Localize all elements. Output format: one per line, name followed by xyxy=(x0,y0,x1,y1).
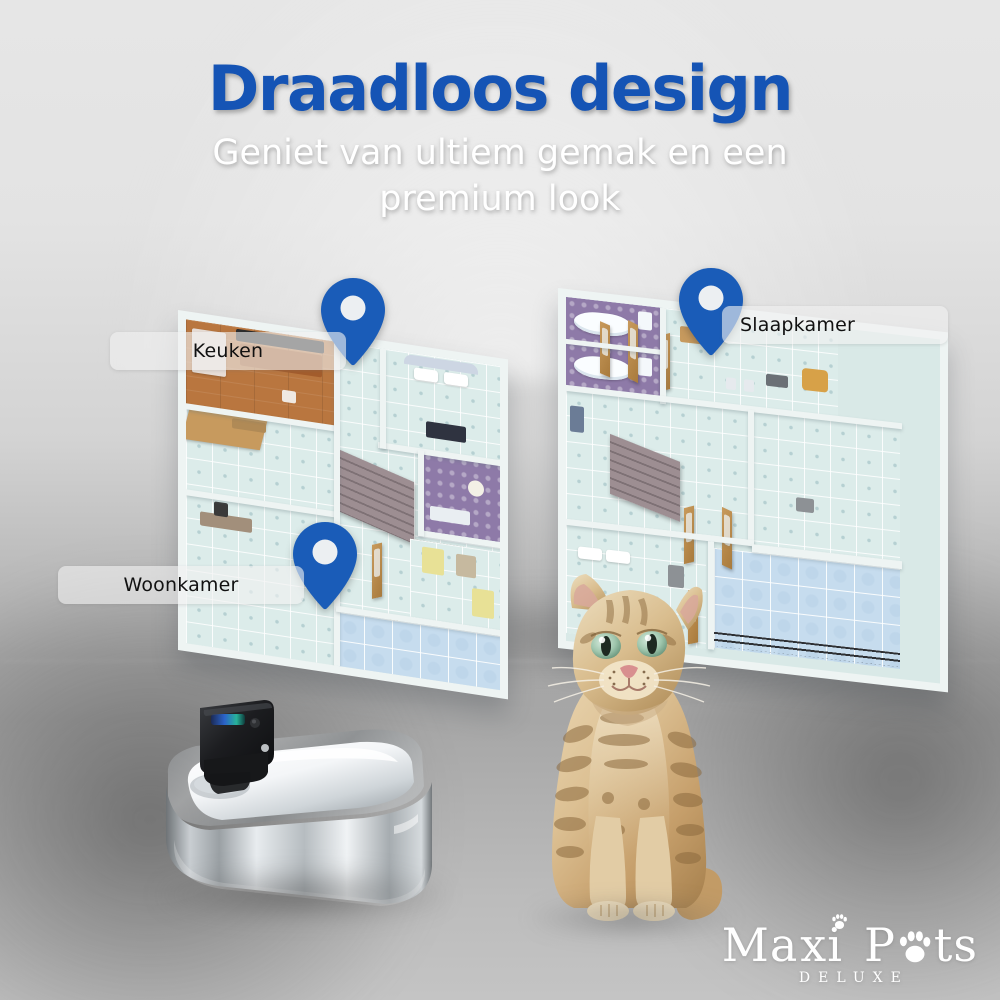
door xyxy=(372,543,382,599)
pump-indicator xyxy=(261,744,269,752)
pillow xyxy=(606,549,630,564)
wall xyxy=(334,341,340,672)
brand-logo-wordmark: MaxiPts xyxy=(722,922,978,968)
headline-block: Draadloos design Geniet van ultiem gemak… xyxy=(0,58,1000,222)
wall xyxy=(660,308,666,405)
bengal-cat xyxy=(516,568,746,936)
toilet xyxy=(638,311,652,331)
living-tv xyxy=(214,501,228,517)
door xyxy=(600,321,610,377)
side-table xyxy=(456,554,476,579)
brand-logo-tagline: DELUXE xyxy=(722,970,978,986)
room-family-left xyxy=(410,539,500,630)
wall xyxy=(748,410,754,547)
pillow xyxy=(578,546,602,561)
brand-logo-ma: Ma xyxy=(722,922,799,968)
bengal-cat-illustration xyxy=(516,568,746,936)
brand-logo: MaxiPts DELUXE xyxy=(722,922,978,986)
kitchen-appliance xyxy=(282,390,296,404)
yellow-armchair xyxy=(422,546,444,575)
brand-logo-ts: ts xyxy=(934,922,978,968)
yellow-armchair xyxy=(472,588,494,619)
page-subtitle: Geniet van ultiem gemak en een premium l… xyxy=(170,130,830,222)
toilet xyxy=(638,357,652,377)
product-shadow xyxy=(160,868,446,922)
product-water-fountain xyxy=(148,690,448,930)
left-wing-interior xyxy=(186,319,500,690)
hall-cabinet xyxy=(570,405,584,433)
label-slaapkamer-text: Slaapkamer xyxy=(740,314,855,336)
pump-display xyxy=(211,714,245,725)
paw-print-small-icon xyxy=(831,892,848,910)
promo-banner: Draadloos design Geniet van ultiem gemak… xyxy=(0,0,1000,1000)
stool xyxy=(744,379,754,392)
brand-logo-p: P xyxy=(864,922,896,968)
label-woonkamer-text: Woonkamer xyxy=(123,574,238,596)
pouffe xyxy=(802,368,828,393)
cat-shadow xyxy=(532,898,732,938)
room-lounge xyxy=(752,410,900,561)
bedroom-bench xyxy=(766,374,788,389)
stool xyxy=(726,377,736,390)
paw-print-large-icon xyxy=(898,926,932,962)
coffee-table xyxy=(796,497,814,513)
label-woonkamer[interactable]: Woonkamer xyxy=(58,566,304,604)
label-keuken-text: Keuken xyxy=(193,340,264,362)
label-keuken[interactable]: Keuken xyxy=(110,332,346,370)
label-slaapkamer[interactable]: Slaapkamer xyxy=(722,306,948,344)
wall xyxy=(418,450,424,537)
page-title: Draadloos design xyxy=(0,58,1000,120)
